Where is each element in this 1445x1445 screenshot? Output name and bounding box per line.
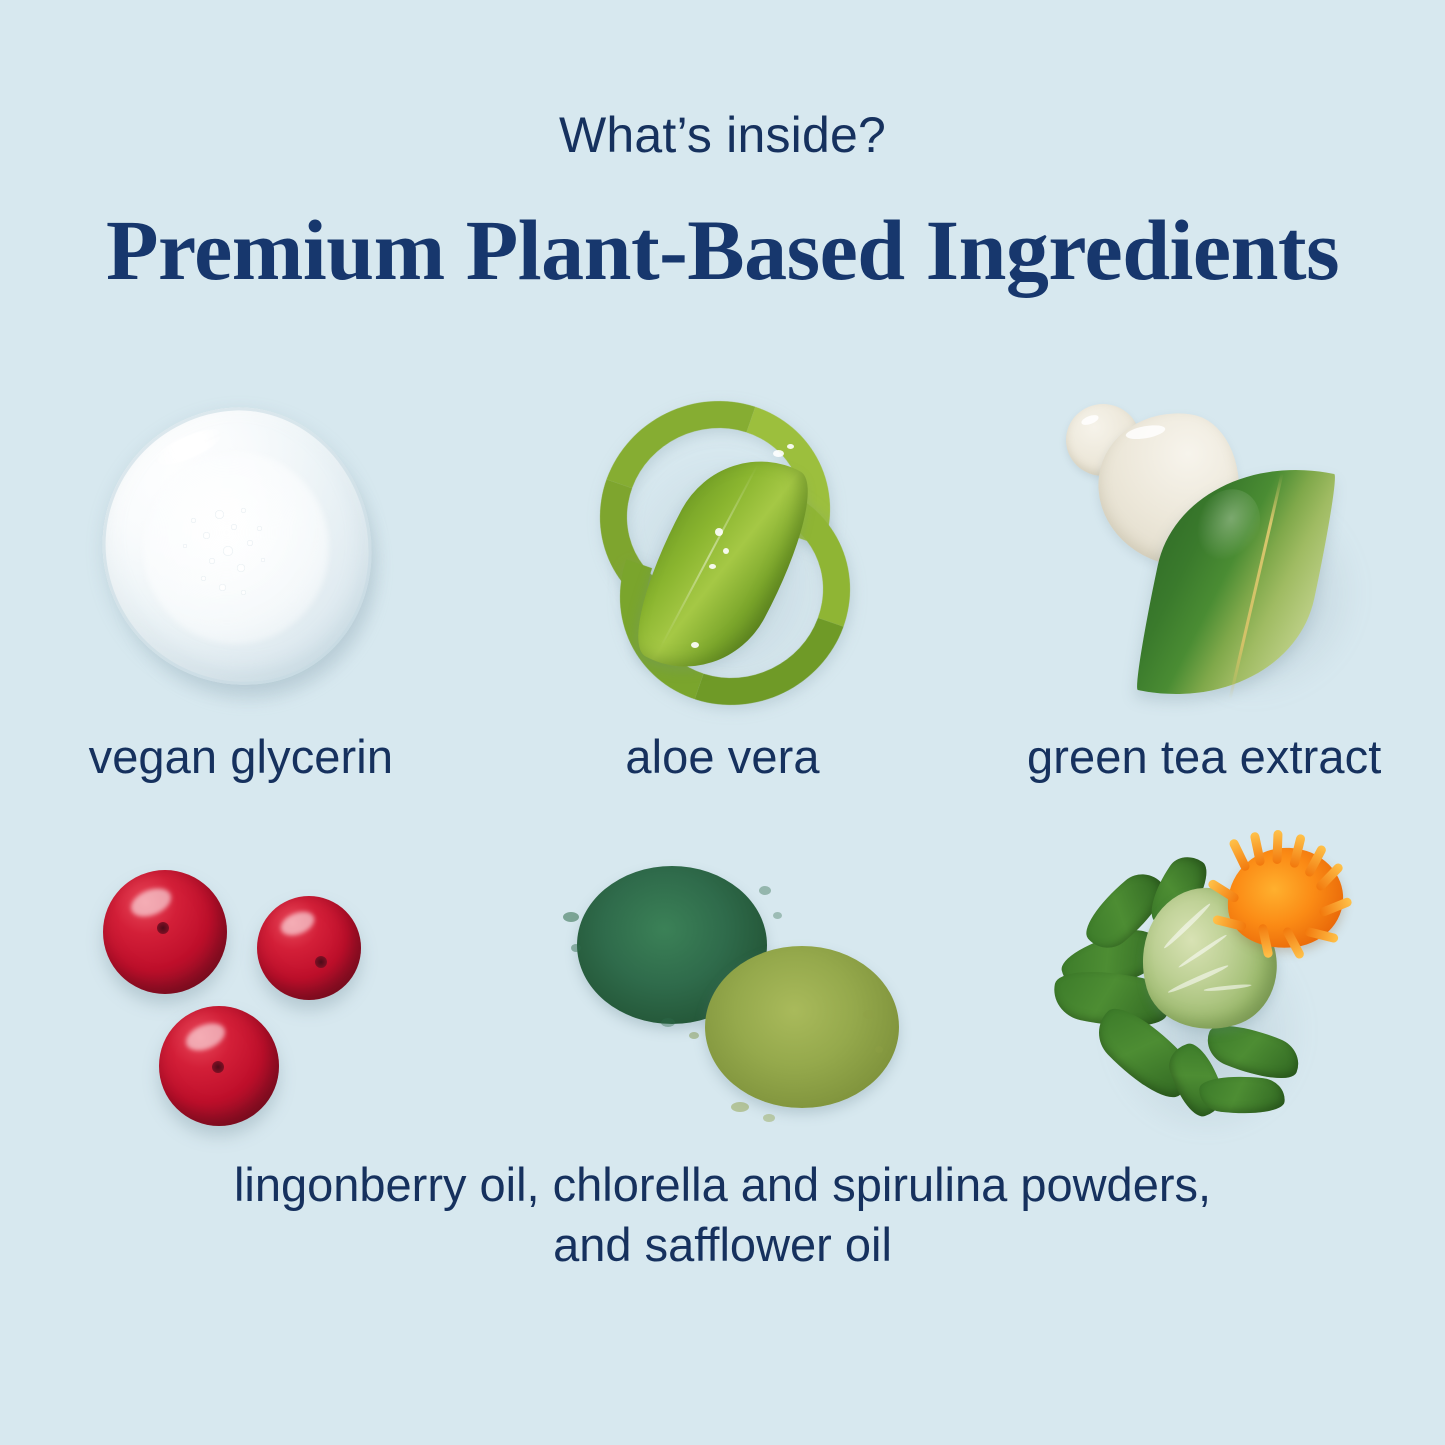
- ingredient-label-aloe-vera: aloe vera: [482, 730, 964, 784]
- safflower-icon: [963, 840, 1445, 1180]
- ingredient-label-vegan-glycerin: vegan glycerin: [0, 730, 482, 784]
- chlorella-spirulina-powder-icon: [482, 840, 964, 1180]
- lingonberry-icon: [0, 840, 482, 1180]
- caption-line-1: lingonberry oil, chlorella and spirulina…: [0, 1155, 1445, 1215]
- ingredient-cell-lingonberry: [0, 840, 482, 1180]
- green-tea-extract-icon: [963, 380, 1445, 720]
- ingredient-cell-safflower: [963, 840, 1445, 1180]
- ingredient-caption-row-two: lingonberry oil, chlorella and spirulina…: [0, 1155, 1445, 1275]
- eyebrow-text: What’s inside?: [0, 108, 1445, 163]
- aloe-vera-icon: [482, 380, 964, 720]
- ingredient-row-two: [0, 840, 1445, 1180]
- ingredient-row-one: vegan glycerin aloe vera green tea extra…: [0, 380, 1445, 784]
- ingredient-cell-aloe-vera: [482, 380, 964, 720]
- ingredients-infographic: What’s inside? Premium Plant-Based Ingre…: [0, 0, 1445, 1445]
- ingredient-labels-row-one: vegan glycerin aloe vera green tea extra…: [0, 730, 1445, 784]
- glycerin-droplet-icon: [0, 380, 482, 720]
- caption-line-2: and safflower oil: [0, 1215, 1445, 1275]
- ingredient-cell-green-tea-extract: [963, 380, 1445, 720]
- ingredient-cell-vegan-glycerin: [0, 380, 482, 720]
- ingredient-cell-chlorella-spirulina-powders: [482, 840, 964, 1180]
- page-title: Premium Plant-Based Ingredients: [0, 205, 1445, 295]
- ingredient-label-green-tea-extract: green tea extract: [963, 730, 1445, 784]
